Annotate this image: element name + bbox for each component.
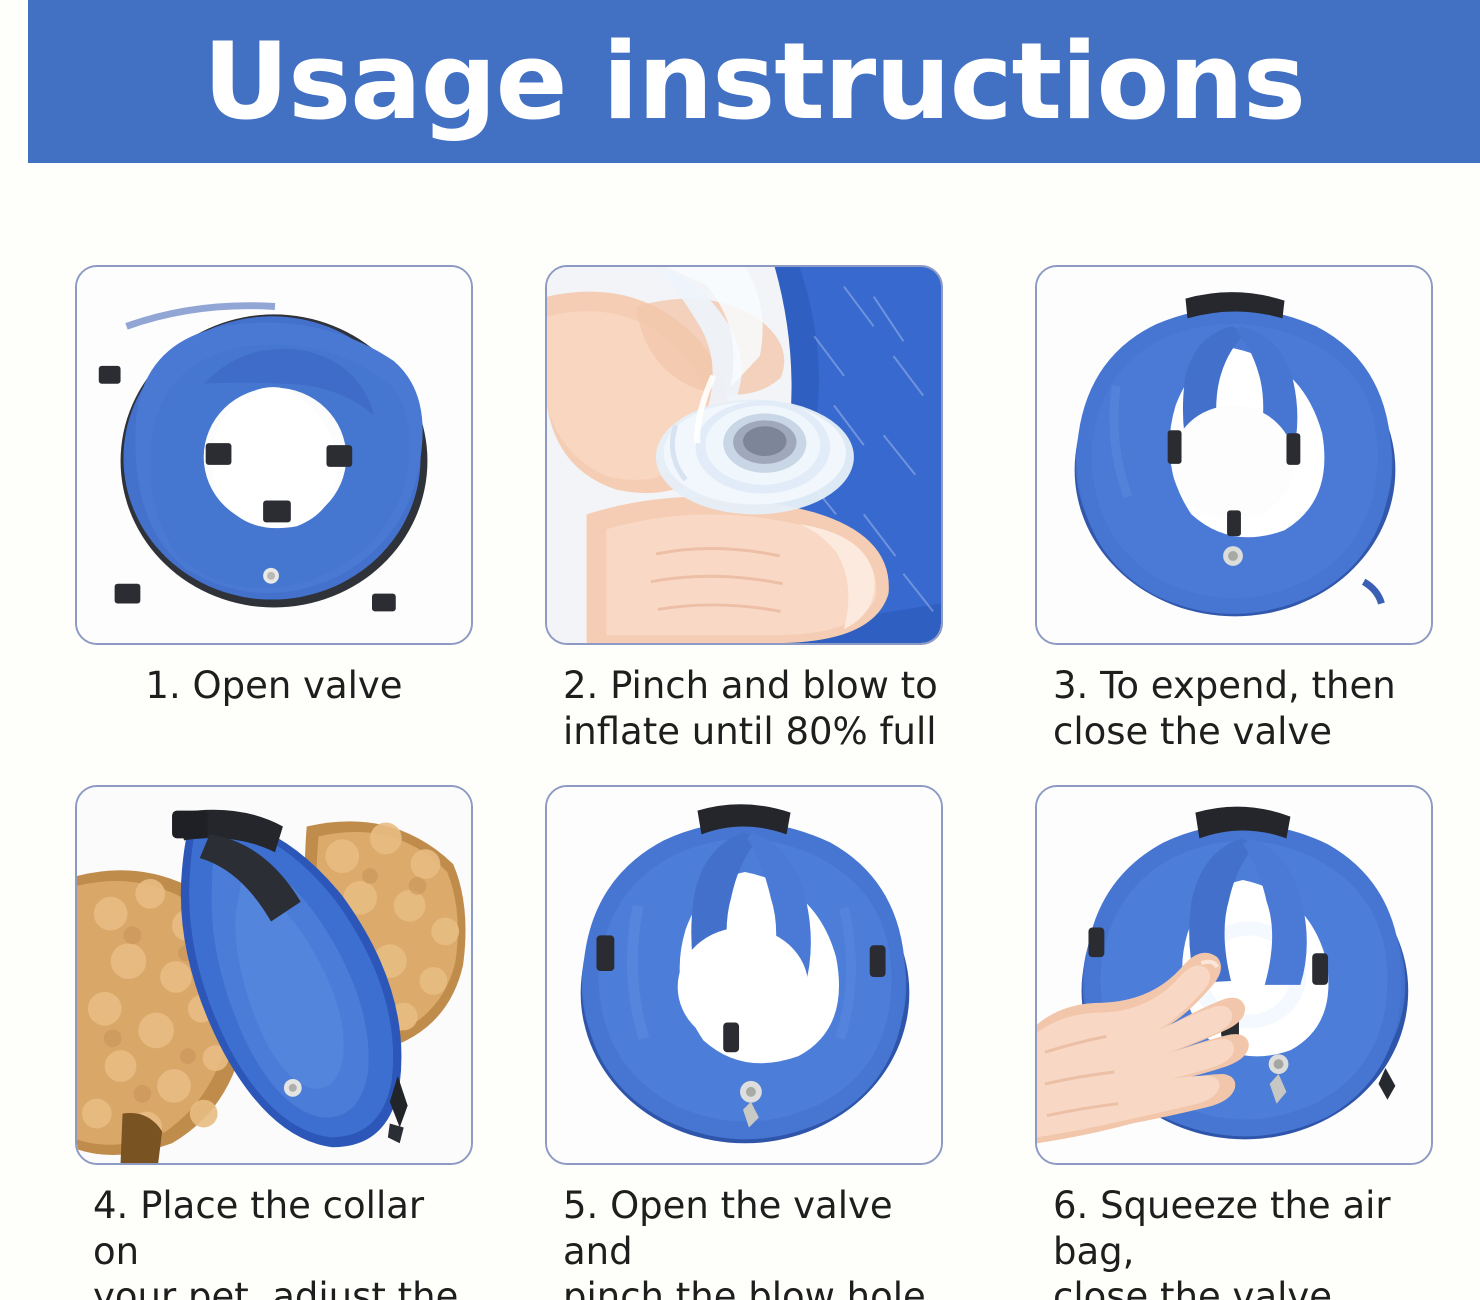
step-card-4: 4. Place the collar on your pet, adjust … [75,785,473,1300]
step-card-1: 1. Open valve [75,265,473,709]
step-card-6: 6. Squeeze the air bag, close the valve [1035,785,1433,1300]
dog-wearing-collar-illustration [77,787,471,1163]
collar-front-view-illustration [547,787,941,1163]
header-banner: Usage instructions [28,0,1480,163]
instruction-steps-grid: 1. Open valve [0,163,1480,1300]
deflated-collar-photo [75,265,473,645]
collar-front-view-photo [545,785,943,1165]
page-title: Usage instructions [203,29,1305,135]
deflated-collar-illustration [77,267,471,643]
step-caption-1: 1. Open valve [75,663,473,709]
step-card-5: 5. Open the valve and pinch the blow hol… [545,785,943,1300]
step-card-2: 2. Pinch and blow to inflate until 80% f… [545,265,943,754]
squeeze-air-bag-photo [1035,785,1433,1165]
step-card-3: 3. To expend, then close the valve [1035,265,1433,754]
valve-pinch-illustration [547,267,941,643]
step-caption-2: 2. Pinch and blow to inflate until 80% f… [545,663,943,754]
step-caption-4: 4. Place the collar on your pet, adjust … [75,1183,473,1300]
step-caption-6: 6. Squeeze the air bag, close the valve [1035,1183,1433,1300]
step-caption-3: 3. To expend, then close the valve [1035,663,1433,754]
inflated-collar-photo [1035,265,1433,645]
squeeze-air-bag-illustration [1037,787,1431,1163]
inflated-collar-illustration [1037,267,1431,643]
dog-wearing-collar-photo [75,785,473,1165]
valve-pinch-photo [545,265,943,645]
step-caption-5: 5. Open the valve and pinch the blow hol… [545,1183,943,1300]
